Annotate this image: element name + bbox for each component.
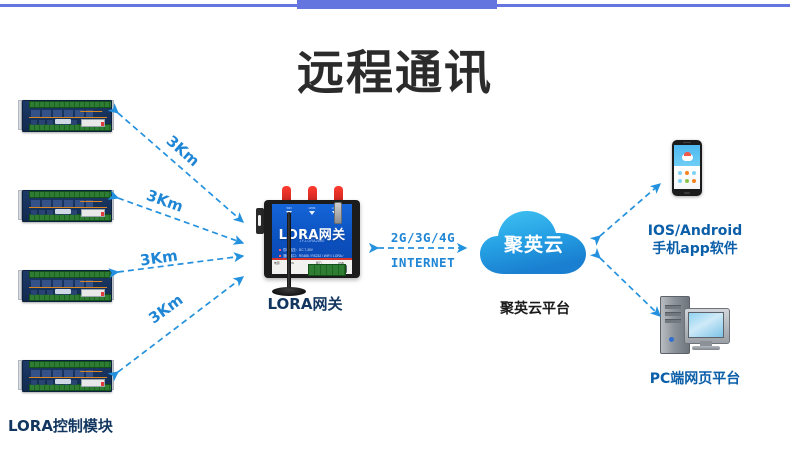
module-board	[22, 100, 112, 132]
power-led	[101, 382, 104, 386]
caption-mobile-app-line1: IOS/Android	[620, 222, 770, 240]
network-type-label: 2G/3G/4G	[368, 230, 478, 245]
gateway-model-text: JY-LORA2000	[272, 239, 352, 243]
pc-screen	[688, 312, 724, 338]
gateway-body: WIFI GPRS LORA LORA网关 JY-LORA2000 供电电压：D…	[264, 200, 360, 278]
lora-gateway-device: WIFI GPRS LORA LORA网关 JY-LORA2000 供电电压：D…	[238, 186, 366, 296]
cloud-name-text: 聚英云	[478, 230, 590, 257]
module-logo	[55, 379, 71, 384]
pc-drive-slot-2	[665, 312, 681, 316]
caption-pc-web-platform: PC端网页平台	[615, 368, 775, 388]
distance-label-1: 3Km	[163, 132, 203, 170]
whip-antenna-tip	[334, 202, 342, 224]
phone-app-hero-accent	[684, 152, 691, 156]
smartphone-device	[672, 140, 702, 196]
arrow-module-3-gateway	[118, 256, 243, 272]
top-banner-block	[297, 0, 497, 9]
terminal-block-top	[29, 361, 112, 368]
module-board	[22, 270, 112, 302]
lora-control-module-3	[18, 265, 114, 305]
phone-app-icon-1	[678, 171, 682, 175]
phone-app-icon-4	[678, 179, 682, 183]
page-title: 远程通讯	[0, 34, 790, 103]
gateway-terminal-connector	[308, 264, 346, 276]
module-logo	[55, 289, 71, 294]
label-power: 电源	[274, 261, 280, 265]
distance-label-3: 3Km	[139, 246, 179, 269]
diagram-canvas: 远程通讯	[0, 0, 790, 472]
phone-app-icon-2	[685, 171, 689, 175]
terminal-block-top	[29, 271, 112, 278]
phone-app-icon-6	[692, 179, 696, 183]
caption-lora-modules: LORA控制模块	[8, 415, 188, 436]
mount-ear-left	[256, 208, 264, 234]
desktop-computer	[660, 296, 730, 354]
caption-lora-gateway: LORA网关	[235, 293, 375, 314]
pc-monitor-foot	[692, 346, 720, 350]
lora-control-module-1	[18, 95, 114, 135]
power-led	[101, 122, 104, 126]
antenna-icon-gprs	[309, 211, 315, 215]
power-led	[101, 212, 104, 216]
phone-earpiece	[683, 142, 691, 143]
antenna-label-gprs: GPRS	[305, 207, 319, 210]
phone-app-icon-5	[685, 179, 689, 183]
phone-app-icon-3	[692, 171, 696, 175]
pc-drive-slot-1	[665, 305, 681, 309]
antenna-label-wifi: WIFI	[282, 207, 296, 210]
module-board	[22, 190, 112, 222]
module-logo	[55, 119, 71, 124]
pc-monitor	[684, 308, 730, 344]
lora-control-module-4	[18, 355, 114, 395]
caption-mobile-app: IOS/Android 手机app软件	[620, 222, 770, 258]
lora-control-module-2	[18, 185, 114, 225]
arrow-cloud-pc	[600, 258, 660, 316]
phone-screen	[674, 145, 700, 189]
terminal-block-top	[29, 191, 112, 198]
phone-home-button	[684, 192, 690, 194]
whip-antenna-rod	[287, 212, 291, 290]
pc-power-button	[669, 337, 674, 342]
terminal-block-top	[29, 101, 112, 108]
caption-mobile-app-line2: 手机app软件	[620, 240, 770, 258]
distance-label-2: 3Km	[144, 186, 186, 216]
caption-cloud-platform: 聚英云平台	[470, 298, 600, 318]
module-logo	[55, 209, 71, 214]
pc-drive-slot-3	[665, 319, 681, 323]
internet-label: INTERNET	[368, 255, 478, 270]
arrow-module-4-gateway	[118, 277, 243, 372]
module-board	[22, 360, 112, 392]
distance-label-4: 3Km	[145, 291, 186, 328]
cloud-platform: 聚英云	[478, 208, 590, 280]
power-led	[101, 292, 104, 296]
